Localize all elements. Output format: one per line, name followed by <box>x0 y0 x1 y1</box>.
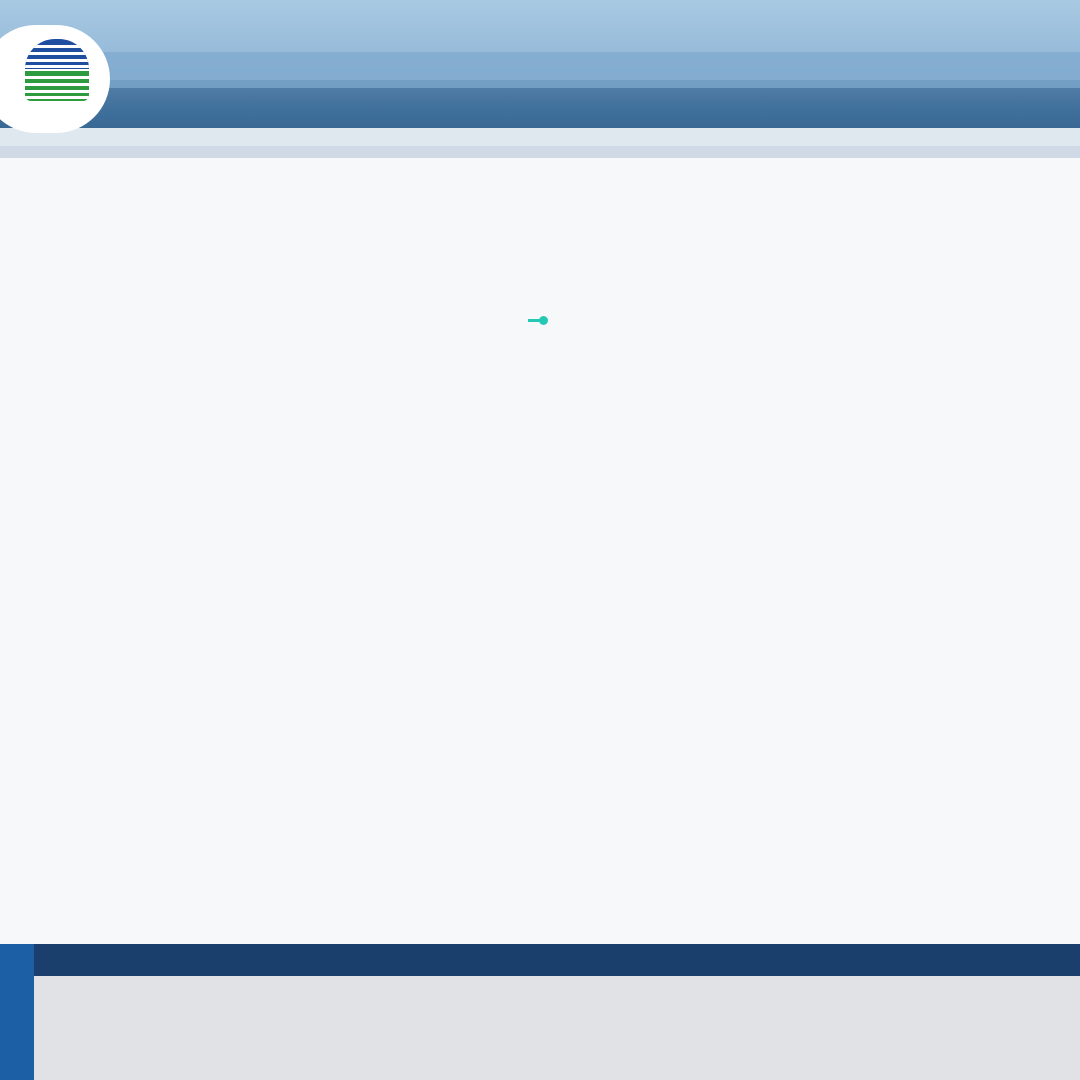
header-floor-shadow <box>0 146 1080 158</box>
title-block <box>0 174 1080 194</box>
forecast-infographic <box>0 0 1080 1080</box>
sst-chart <box>20 220 1060 310</box>
legend-dot-swatch <box>539 316 548 325</box>
bmkg-logo <box>0 25 110 133</box>
legend-note-strip <box>34 944 1080 976</box>
logo-sky-arc <box>25 39 89 69</box>
validity-row <box>0 174 1080 194</box>
chart-legend <box>0 312 1080 327</box>
legend-section <box>0 944 1080 1080</box>
logo-land-arc <box>25 71 89 101</box>
daily-panels <box>0 327 1080 333</box>
header-sea <box>0 52 1080 88</box>
legend-items <box>34 976 1080 1080</box>
legend-vertical-bar <box>0 944 34 1080</box>
page-header <box>0 0 1080 158</box>
